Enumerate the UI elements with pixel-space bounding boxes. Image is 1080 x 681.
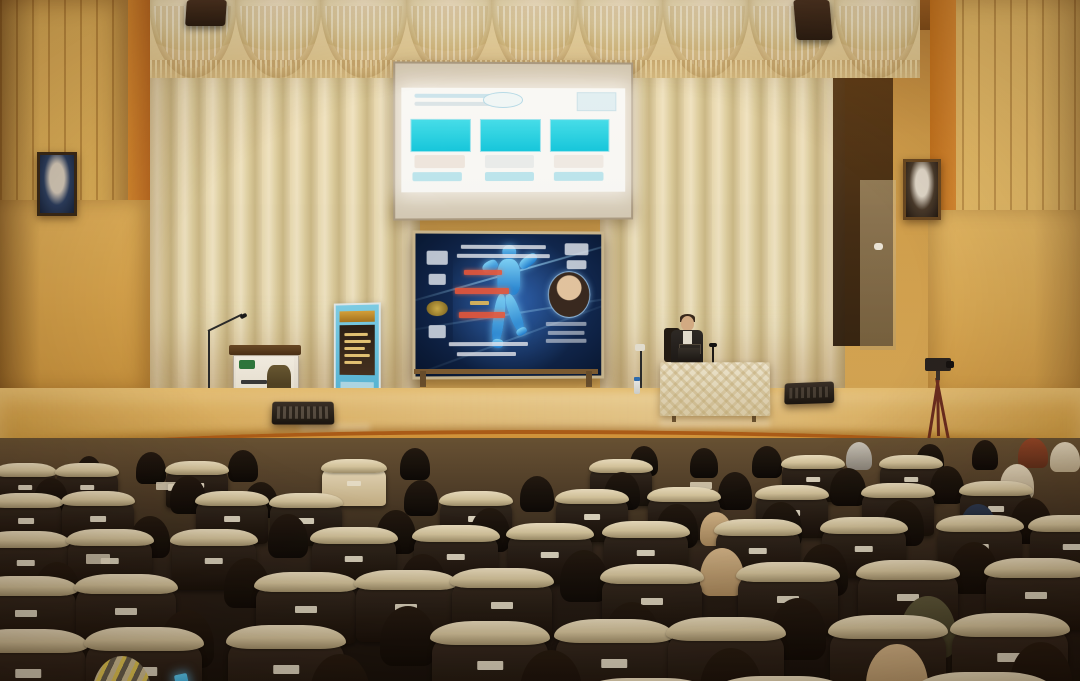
portrait-left (37, 152, 77, 216)
banner-leg (420, 371, 426, 387)
slide-content-box (410, 119, 471, 152)
hanging-speaker-left (185, 0, 227, 26)
audience-member (972, 440, 998, 470)
poster-badge-icon (239, 360, 254, 369)
banner-headline (459, 312, 506, 318)
banner-text-line (449, 342, 527, 346)
slide-subtitle-line (415, 101, 492, 105)
seated-audience (0, 438, 1080, 681)
water-bottle-cap (634, 377, 640, 381)
banner-text-line (546, 339, 587, 343)
banner-leg (586, 371, 592, 387)
seat (0, 634, 86, 681)
stage-curtain-right (600, 48, 845, 393)
slide-content-box (480, 119, 540, 152)
banner-seal-icon (427, 301, 448, 317)
slide-oval-shape (483, 92, 523, 108)
slide-caption-block (415, 155, 465, 169)
banner-text-line (461, 245, 547, 249)
stage-monitor-speaker (784, 381, 834, 404)
paper-sheet (86, 554, 110, 564)
audience-member (846, 442, 872, 470)
lectern-top (229, 345, 301, 355)
table-microphone-head (709, 343, 717, 347)
banner-text-line (470, 301, 489, 305)
curtain-gap-light (860, 180, 896, 350)
banner-logo-icon (429, 274, 446, 285)
audience-member (404, 480, 438, 516)
portrait-right (903, 159, 941, 220)
banner-logo-icon (566, 260, 586, 270)
presenter-head (681, 316, 694, 331)
portrait-right-image (906, 162, 938, 217)
banner-text-line (464, 269, 501, 274)
banner-speaker-portrait (548, 271, 590, 318)
projection-screen-slide (401, 88, 625, 193)
auditorium-photo: Auditorium Conference Hall Large univers… (0, 0, 1080, 681)
banner-logo-icon (429, 325, 446, 338)
anatomical-figure-graphic (478, 245, 545, 367)
poster-header-band (340, 310, 374, 322)
slide-bottom-bar (554, 172, 603, 180)
stage-floor-reflection (0, 392, 1080, 432)
microphone-head (635, 344, 645, 351)
tripod-column (936, 370, 940, 380)
banner-headline (455, 288, 509, 294)
security-camera-icon (874, 243, 883, 250)
audience-member (752, 446, 782, 478)
banner-support-bar (414, 369, 598, 374)
audience-member (400, 448, 430, 480)
slide-logo (577, 92, 617, 111)
standing-poster (334, 302, 381, 399)
audience-member (136, 452, 166, 484)
hanging-speaker-right (793, 0, 832, 40)
camera-lens-icon (946, 361, 954, 368)
banner-text-line (546, 322, 587, 326)
stage-monitor-speaker (272, 402, 335, 425)
presenter-laptop (678, 348, 700, 362)
portrait-left-image (40, 155, 74, 213)
slide-content-box (550, 119, 610, 152)
slide-bottom-bar (485, 172, 534, 180)
banner-text-line (457, 352, 517, 356)
presenter-table (660, 362, 771, 416)
poster-body (339, 325, 375, 375)
slide-caption-block (485, 155, 534, 169)
slide-bottom-bar (413, 172, 463, 180)
slide-caption-block (554, 154, 603, 168)
banner-logo-icon (427, 251, 448, 265)
audience-member (690, 448, 718, 478)
table-microphone-pole (712, 346, 714, 364)
projection-screen (393, 61, 633, 220)
audience-member (228, 450, 258, 482)
audience-member (1018, 438, 1048, 468)
banner-text-line (457, 254, 550, 258)
event-banner (412, 230, 604, 379)
water-bottle (634, 380, 640, 394)
banner-logo-icon (565, 243, 589, 256)
audience-member (1050, 442, 1080, 472)
banner-text-line (548, 330, 585, 334)
audience-member (520, 476, 554, 512)
column-strip-left (128, 0, 150, 200)
